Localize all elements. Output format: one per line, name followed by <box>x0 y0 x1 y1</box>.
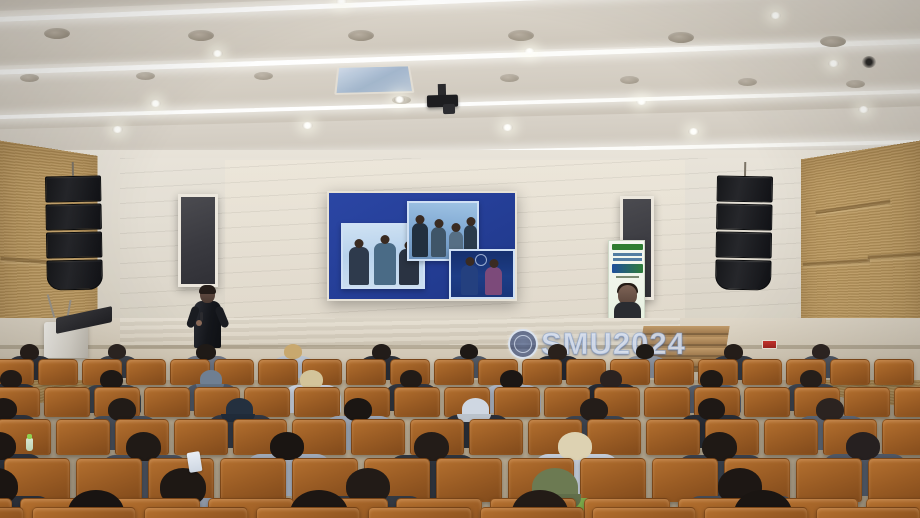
auditorium-seat <box>38 359 78 385</box>
audience-person-head <box>700 370 723 389</box>
audience-person-head <box>270 432 304 460</box>
audience-person-head <box>414 432 449 461</box>
auditorium-seat <box>764 419 818 455</box>
auditorium-seat <box>32 507 136 518</box>
stage-step <box>642 326 729 335</box>
ceiling-vent-icon <box>136 72 155 80</box>
auditorium-seat <box>894 387 920 417</box>
banner-text-line <box>613 253 642 256</box>
auditorium-seat <box>592 507 696 518</box>
panel-seam <box>803 258 870 266</box>
auditorium-seat <box>258 359 298 385</box>
auditorium-seat <box>522 359 562 385</box>
ceiling-downlight <box>524 48 535 55</box>
water-bottle <box>26 438 33 451</box>
auditorium-seat <box>144 507 248 518</box>
auditorium-photo: SMU2024 <box>0 0 920 518</box>
audience-person-head <box>108 344 126 359</box>
speaker-module <box>717 176 773 203</box>
audience-person-cap <box>226 398 253 420</box>
auditorium-seat <box>56 419 110 455</box>
seated-audience <box>0 340 920 518</box>
ceiling-downlight <box>828 60 839 67</box>
auditorium-seat <box>220 458 286 502</box>
audience-person-head <box>108 398 136 421</box>
auditorium-seat <box>256 507 360 518</box>
ceiling-downlight <box>302 122 313 129</box>
audience-person-head <box>580 398 608 421</box>
speaker-module <box>45 176 101 203</box>
speaker-module <box>46 260 103 291</box>
auditorium-seat <box>126 359 166 385</box>
audience-person-head <box>702 432 737 461</box>
audience-person-head <box>100 370 123 389</box>
ceiling-downlight <box>858 106 869 113</box>
auditorium-seat <box>796 458 862 502</box>
audience-person-head <box>20 344 39 360</box>
audience-person-head <box>372 344 391 360</box>
presenter-hair <box>199 285 216 294</box>
ceiling-downlight <box>394 96 405 103</box>
auditorium-seat <box>494 387 540 417</box>
audience-person-head <box>400 370 422 388</box>
banner-text-line <box>613 258 642 261</box>
ceiling-downlight <box>502 124 513 131</box>
ceiling-vent-icon <box>188 30 214 41</box>
auditorium-seat <box>654 359 694 385</box>
audience-person-head <box>800 370 822 388</box>
ceiling-downlight <box>636 98 647 105</box>
photo-person <box>374 243 396 285</box>
auditorium-seat <box>144 387 190 417</box>
auditorium-seat <box>587 419 641 455</box>
speaker-module <box>716 204 772 231</box>
auditorium-seat <box>0 507 24 518</box>
ceiling-vent-icon <box>620 76 639 84</box>
photo-person <box>461 265 478 295</box>
auditorium-seat <box>436 458 502 502</box>
auditorium-seat <box>874 359 914 385</box>
ceiling-vent-icon <box>44 28 70 39</box>
projector-lens-icon <box>443 104 455 114</box>
speaker-module <box>46 232 102 259</box>
auditorium-seat <box>346 359 386 385</box>
photo-person <box>349 247 369 285</box>
panel-seam <box>816 200 891 215</box>
speaker-module <box>45 204 101 231</box>
audience-person-cap <box>200 370 222 388</box>
ceiling-vent-icon <box>254 72 273 80</box>
banner-headline <box>612 264 643 273</box>
auditorium-seat <box>646 419 700 455</box>
auditorium-seat <box>434 359 474 385</box>
screen-photo-right <box>449 249 515 299</box>
line-array-speaker-left <box>45 176 103 293</box>
auditorium-seat <box>644 387 690 417</box>
ceiling-downlight <box>212 50 223 57</box>
audience-person-cap <box>462 398 489 420</box>
photo-person <box>431 227 446 257</box>
speaker-module <box>716 232 772 259</box>
audience-person-head <box>846 432 880 460</box>
audience-person-head <box>724 344 743 360</box>
ceiling-skylight-panel <box>334 65 414 95</box>
photo-person <box>412 223 428 257</box>
photo-seal-icon <box>475 254 487 266</box>
audience-person-head <box>0 370 22 388</box>
audience-person-head <box>698 398 725 420</box>
ceiling-vent-icon <box>668 32 694 43</box>
ceiling-vent-icon <box>846 80 865 88</box>
audience-person-head <box>816 398 844 421</box>
projection-screen <box>327 191 517 301</box>
auditorium-seat <box>868 458 920 502</box>
audience-person-head <box>500 370 523 389</box>
ceiling-vent-icon <box>738 78 757 86</box>
audience-person-head <box>812 344 830 359</box>
ceiling-vent-icon <box>348 30 374 41</box>
auditorium-seat <box>480 507 584 518</box>
ceiling-vent-icon <box>508 30 534 41</box>
screen-content <box>329 193 515 299</box>
auditorium-seat <box>744 387 790 417</box>
line-array-speaker-right <box>715 176 773 293</box>
auditorium-seat <box>704 507 808 518</box>
auditorium-seat <box>469 419 523 455</box>
ceiling-downlight <box>150 100 161 107</box>
ceiling <box>0 0 920 172</box>
presenter <box>190 286 224 348</box>
ceiling-downlight <box>112 126 123 133</box>
audience-person-head <box>196 344 216 360</box>
presenter-hand <box>196 320 202 326</box>
audience-person-head <box>126 432 161 461</box>
audience-person-head <box>344 398 372 421</box>
auditorium-seat <box>44 387 90 417</box>
audience-person-head <box>548 344 567 360</box>
speaker-hanger <box>72 162 74 176</box>
audience-person-head <box>636 344 654 359</box>
ceiling-vent-icon <box>820 36 846 47</box>
banner-subtext <box>616 276 639 278</box>
speaker-module <box>715 260 772 291</box>
ceiling-sprinkler-icon <box>862 56 876 68</box>
ceiling-vent-icon <box>500 74 519 82</box>
auditorium-seat <box>294 387 340 417</box>
audience-person-head <box>284 344 302 359</box>
auditorium-seat <box>844 387 890 417</box>
ceiling-vent-icon <box>20 74 39 82</box>
auditorium-seat <box>351 419 405 455</box>
ceiling-downlight <box>688 128 699 135</box>
audience-person-head <box>460 344 478 359</box>
auditorium-seat <box>830 359 870 385</box>
photo-person <box>485 267 502 295</box>
auditorium-seat <box>174 419 228 455</box>
auditorium-seat <box>394 387 440 417</box>
audience-person-head <box>558 432 592 460</box>
auditorium-seat <box>368 507 472 518</box>
panel-seam <box>868 252 920 259</box>
speaker-hanger <box>744 162 746 176</box>
wall-display-panel-left <box>178 194 218 287</box>
auditorium-seat <box>580 458 646 502</box>
auditorium-seat <box>742 359 782 385</box>
ceiling-downlight <box>770 12 781 19</box>
auditorium-seat <box>652 458 718 502</box>
audience-person-head <box>300 370 323 389</box>
audience-person-head <box>600 370 622 388</box>
auditorium-seat <box>816 507 920 518</box>
auditorium-seat <box>882 419 920 455</box>
banner-header-bar <box>612 244 643 250</box>
